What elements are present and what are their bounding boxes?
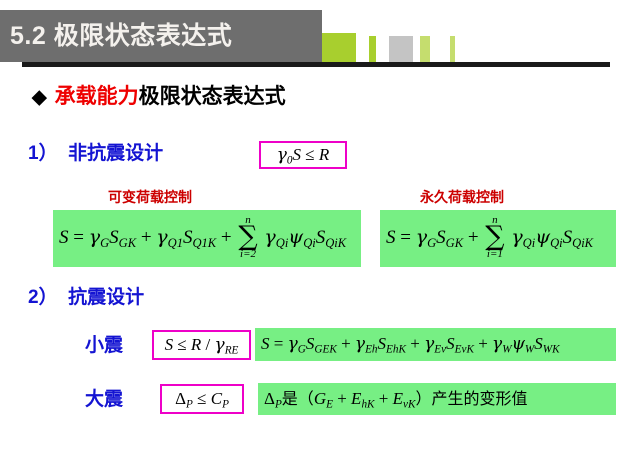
label-permanent-load-control: 永久荷载控制 bbox=[420, 188, 504, 207]
formula-box-minor-quake: S = γGSGEK + γEhSEhK + γEvSEvK + γWψWSWK bbox=[255, 328, 616, 361]
formula-box-major-quake-criterion: ΔP ≤ CP bbox=[160, 384, 244, 414]
formula-box-variable-load: S = γGSGK + γQ1SQ1K + n ∑ i=2 γQiψQiSQiK bbox=[53, 210, 361, 267]
formula-gamma0-criterion: γ0S ≤ R bbox=[277, 146, 330, 165]
item-1-number: 1） bbox=[28, 143, 58, 164]
slide-canvas: 5.2 极限状态表达式 ◆承载能力极限状态表达式 1） 非抗震设计 γ0S ≤ … bbox=[0, 0, 631, 473]
header-divider-rule bbox=[22, 62, 610, 67]
formula-major-quake-criterion: ΔP ≤ CP bbox=[175, 390, 229, 409]
item-1-heading: 1） 非抗震设计 bbox=[28, 141, 163, 167]
formula-minor-quake-criterion: S ≤ R / γRE bbox=[165, 336, 239, 355]
diamond-bullet-icon: ◆ bbox=[32, 87, 47, 108]
formula-major-quake-note: ΔP是（GE + EhK + EvK）产生的变形值 bbox=[264, 390, 528, 409]
label-variable-load-control: 可变荷载控制 bbox=[108, 188, 192, 207]
decor-bar-green-thin-2 bbox=[420, 36, 430, 62]
formula-box-permanent-load: S = γGSGK + n ∑ i=1 γQiψQiSQiK bbox=[380, 210, 616, 267]
decor-bar-green-large bbox=[322, 33, 356, 62]
formula-minor-quake: S = γGSGEK + γEhSEhK + γEvSEvK + γWψWSWK bbox=[261, 335, 560, 354]
page-title: 5.2 极限状态表达式 bbox=[10, 19, 315, 55]
decor-bar-green-thin-3 bbox=[450, 36, 455, 62]
label-major-quake: 大震 bbox=[85, 387, 123, 413]
formula-variable-load: S = γGSGK + γQ1SQ1K + n ∑ i=2 γQiψQiSQiK bbox=[59, 216, 346, 261]
page-title-number: 5.2 bbox=[10, 22, 46, 50]
item-1-label: 非抗震设计 bbox=[68, 143, 163, 164]
decor-bar-green-thin-1 bbox=[369, 36, 376, 62]
formula-box-major-quake-note: ΔP是（GE + EhK + EvK）产生的变形值 bbox=[258, 383, 616, 415]
decor-bar-gray bbox=[389, 36, 413, 62]
summation-icon: n ∑ i=2 bbox=[238, 215, 257, 260]
summation-icon: n ∑ i=1 bbox=[485, 215, 504, 260]
item-2-heading: 2） 抗震设计 bbox=[28, 285, 144, 311]
section-heading: ◆承载能力极限状态表达式 bbox=[32, 83, 286, 112]
section-heading-black: 极限状态表达式 bbox=[139, 85, 286, 108]
formula-permanent-load: S = γGSGK + n ∑ i=1 γQiψQiSQiK bbox=[386, 216, 593, 261]
item-2-label: 抗震设计 bbox=[68, 287, 144, 308]
item-2-number: 2） bbox=[28, 287, 58, 308]
formula-box-gamma0-criterion: γ0S ≤ R bbox=[259, 141, 347, 169]
label-minor-quake: 小震 bbox=[85, 333, 123, 359]
section-heading-red: 承载能力 bbox=[55, 85, 139, 108]
page-title-text: 极限状态表达式 bbox=[54, 22, 233, 50]
formula-box-minor-quake-criterion: S ≤ R / γRE bbox=[152, 330, 251, 360]
